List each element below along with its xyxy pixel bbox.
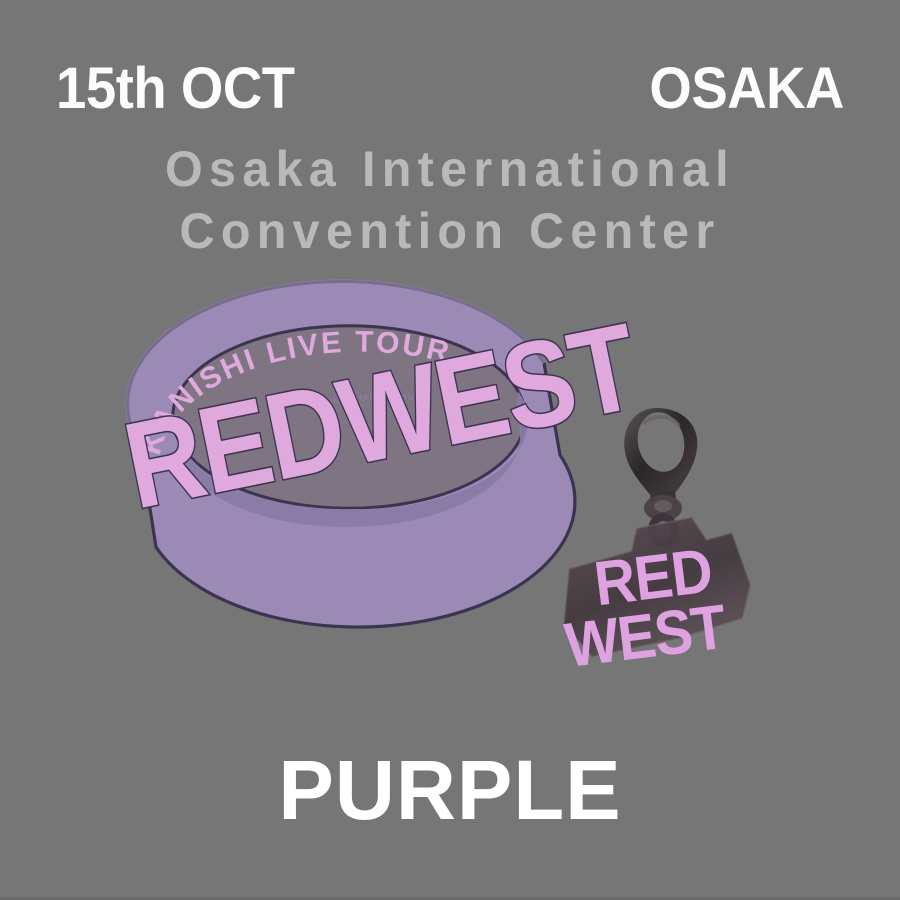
venue-line-1: Osaka International bbox=[14, 138, 887, 200]
venue-line-2: Convention Center bbox=[14, 200, 887, 262]
venue-name: Osaka International Convention Center bbox=[14, 138, 887, 262]
lobster-clasp-icon bbox=[624, 408, 697, 521]
charm-text: RED WEST bbox=[561, 535, 729, 680]
header: 15th OCT OSAKA bbox=[0, 58, 900, 128]
wristband-product-image: KANISHI LIVE TOUR Osaka International C … bbox=[120, 295, 580, 600]
color-variant-label: PURPLE bbox=[5, 742, 896, 838]
acrylic-charm-product-image: RED WEST bbox=[525, 390, 795, 690]
event-date: 15th OCT bbox=[56, 58, 295, 120]
product-listing-image: 15th OCT OSAKA Osaka International Conve… bbox=[0, 0, 900, 900]
event-city: OSAKA bbox=[649, 58, 844, 120]
